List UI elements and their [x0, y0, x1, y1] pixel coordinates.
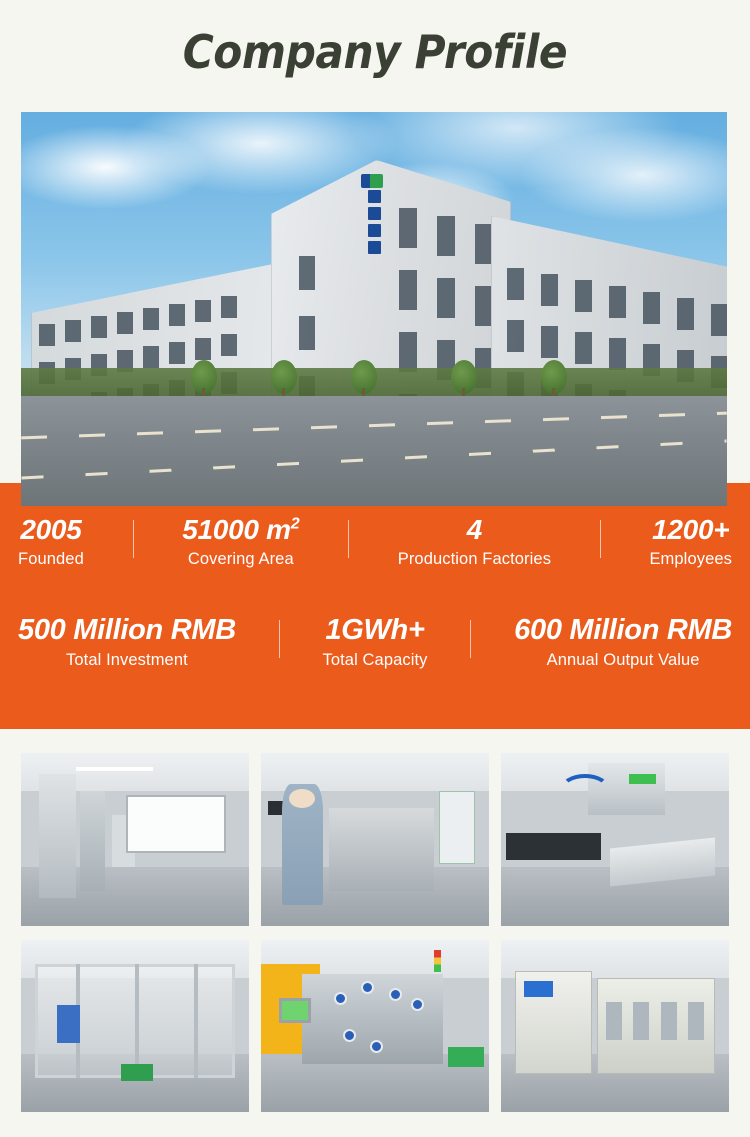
stat-value: 51000 m2 — [182, 512, 299, 547]
stat-total-capacity: 1GWh+ Total Capacity — [318, 612, 431, 673]
stat-label: Total Capacity — [322, 648, 427, 673]
stat-label: Production Factories — [398, 547, 551, 572]
stat-value: 4 — [467, 512, 482, 547]
stat-label: Employees — [649, 547, 732, 572]
stat-label: Covering Area — [188, 547, 294, 572]
square-superscript: 2 — [291, 516, 300, 533]
hero-building-photo — [21, 112, 727, 506]
stats-row-1: 2005 Founded 51000 m2 Covering Area 4 Pr… — [0, 512, 750, 600]
gallery-photo-5[interactable] — [261, 940, 489, 1112]
stat-label: Founded — [18, 547, 84, 572]
stat-divider — [348, 520, 349, 558]
stat-value: 600 Million RMB — [514, 612, 732, 648]
page-title-container: Company Profile — [0, 0, 750, 104]
stat-value: 1200+ — [652, 512, 729, 547]
gallery-photo-2[interactable] — [261, 753, 489, 926]
stats-row-2: 500 Million RMB Total Investment 1GWh+ T… — [0, 612, 750, 696]
road-foreground — [21, 396, 727, 506]
page-title: Company Profile — [183, 25, 567, 79]
stat-value: 500 Million RMB — [18, 612, 236, 648]
building-signage — [366, 190, 382, 300]
gallery-photo-6[interactable] — [501, 940, 729, 1112]
stat-divider — [600, 520, 601, 558]
stat-value: 2005 — [20, 512, 81, 547]
stat-founded: 2005 Founded — [14, 512, 88, 572]
stat-divider — [470, 620, 471, 658]
company-profile-page: Company Profile — [0, 0, 750, 1137]
gallery-photo-3[interactable] — [501, 753, 729, 926]
stat-covering-area: 51000 m2 Covering Area — [178, 512, 303, 572]
building-logo-icon — [361, 174, 383, 188]
stat-divider — [279, 620, 280, 658]
stat-total-investment: 500 Million RMB Total Investment — [14, 612, 240, 673]
stat-employees: 1200+ Employees — [645, 512, 736, 572]
gallery-photo-1[interactable] — [21, 753, 249, 926]
stat-production-factories: 4 Production Factories — [394, 512, 555, 572]
facility-photo-grid — [21, 753, 729, 1112]
stat-label: Annual Output Value — [547, 648, 700, 673]
gallery-photo-4[interactable] — [21, 940, 249, 1112]
stat-annual-output-value: 600 Million RMB Annual Output Value — [510, 612, 736, 673]
stat-divider — [133, 520, 134, 558]
stats-section: 2005 Founded 51000 m2 Covering Area 4 Pr… — [0, 512, 750, 696]
stat-label: Total Investment — [66, 648, 188, 673]
stat-value: 1GWh+ — [325, 612, 424, 648]
